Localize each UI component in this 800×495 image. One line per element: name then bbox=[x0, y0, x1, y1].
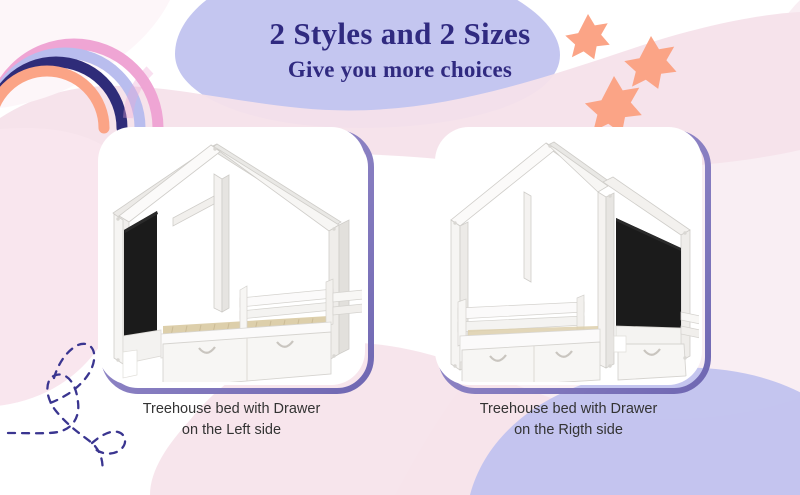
caption-line-2: on the Rigth side bbox=[435, 420, 702, 441]
caption-line-1: Treehouse bed with Drawer bbox=[480, 401, 658, 417]
product-image-left[interactable] bbox=[98, 127, 365, 385]
treehouse-bed-illustration-right bbox=[438, 130, 702, 385]
chalkboard-panel-left bbox=[124, 211, 158, 350]
page-subtitle: Give you more choices bbox=[0, 56, 800, 84]
product-caption-left: Treehouse bed with Drawer on the Left si… bbox=[98, 399, 365, 441]
drawer-front-left-section bbox=[462, 342, 600, 385]
product-card-right[interactable]: Treehouse bed with Drawer on the Rigth s… bbox=[435, 127, 702, 385]
product-image-right[interactable] bbox=[435, 127, 702, 385]
product-card-left[interactable]: Treehouse bed with Drawer on the Left si… bbox=[98, 127, 365, 385]
poster-canvas: 2 Styles and 2 Sizes Give you more choic… bbox=[0, 0, 800, 495]
caption-line-2: on the Left side bbox=[98, 420, 365, 441]
caption-line-1: Treehouse bed with Drawer bbox=[143, 401, 321, 417]
treehouse-bed-illustration-left bbox=[101, 130, 365, 385]
page-title: 2 Styles and 2 Sizes bbox=[0, 16, 800, 52]
header: 2 Styles and 2 Sizes Give you more choic… bbox=[0, 16, 800, 83]
drawer-right bbox=[616, 326, 686, 380]
under-board-block bbox=[614, 336, 626, 352]
product-caption-right: Treehouse bed with Drawer on the Rigth s… bbox=[435, 399, 702, 441]
